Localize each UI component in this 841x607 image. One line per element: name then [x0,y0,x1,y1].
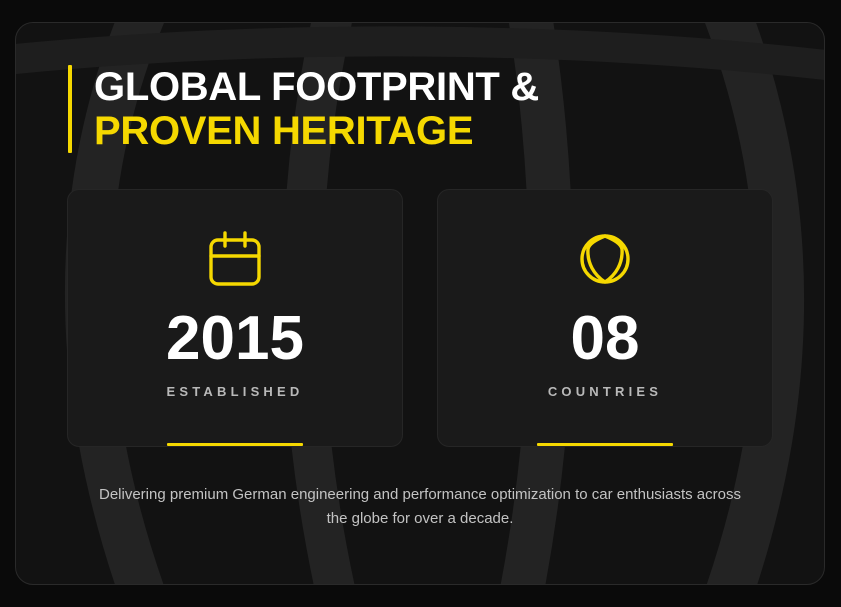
section-caption: Delivering premium German engineering an… [90,483,750,531]
card-accent-underline [167,443,303,446]
stat-label: ESTABLISHED [167,384,304,399]
stats-panel: GLOBAL FOOTPRINT & PROVEN HERITAGE [15,22,825,585]
heading-line-1: GLOBAL FOOTPRINT & [94,65,539,109]
globe-shield-icon [577,228,633,290]
stat-card-countries[interactable]: 08 COUNTRIES [437,189,773,447]
card-accent-underline [537,443,673,446]
stat-card-established[interactable]: 2015 ESTABLISHED [67,189,403,447]
page-root: GLOBAL FOOTPRINT & PROVEN HERITAGE [0,0,841,607]
stat-value: 08 [571,308,640,370]
calendar-icon [207,228,263,290]
stat-value: 2015 [166,308,304,370]
stat-card-list: 2015 ESTABLISHED 08 COUNTRIES [67,189,777,447]
heading-line-2: PROVEN HERITAGE [94,109,539,153]
heading-text: GLOBAL FOOTPRINT & PROVEN HERITAGE [94,65,539,153]
heading-accent-bar [68,65,72,153]
section-heading: GLOBAL FOOTPRINT & PROVEN HERITAGE [68,65,539,153]
stat-label: COUNTRIES [548,384,662,399]
panel-content: GLOBAL FOOTPRINT & PROVEN HERITAGE [16,23,824,584]
